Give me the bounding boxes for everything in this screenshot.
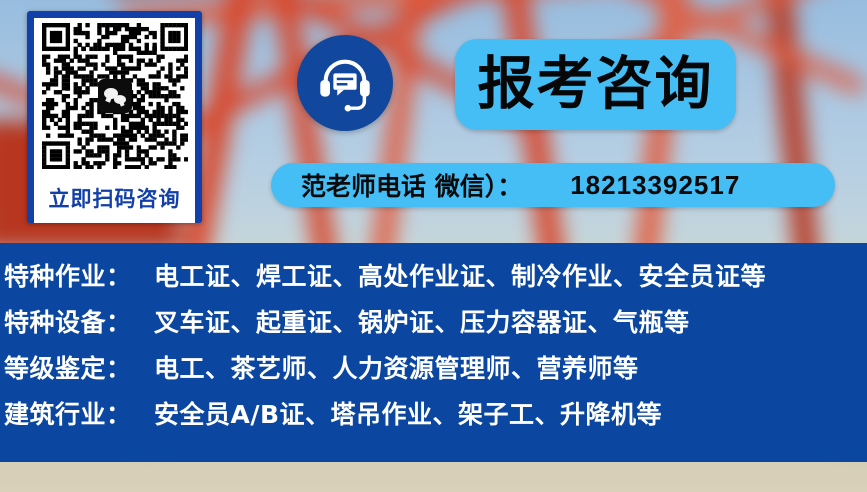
phone-number[interactable]: 18213392517	[570, 170, 740, 201]
category-value: 电工证、焊工证、高处作业证、制冷作业、安全员证等	[154, 257, 766, 293]
category-value: 电工、茶艺师、人力资源管理师、营养师等	[154, 349, 639, 385]
qr-code-image[interactable]	[42, 23, 188, 169]
headset-icon-svg	[314, 52, 376, 114]
qr-code-card[interactable]: 立即扫码咨询	[27, 11, 202, 223]
list-item: 等级鉴定： 电工、茶艺师、人力资源管理师、营养师等	[4, 349, 867, 395]
phone-label: 范老师电话 微信）：	[301, 167, 522, 203]
phone-badge[interactable]: 范老师电话 微信）： 18213392517	[271, 163, 835, 207]
category-label: 特种设备：	[4, 303, 144, 339]
category-label: 建筑行业：	[4, 395, 144, 431]
list-item: 特种设备： 叉车证、起重证、锅炉证、压力容器证、气瓶等	[4, 303, 867, 349]
wechat-icon	[98, 79, 132, 113]
category-label: 等级鉴定：	[4, 349, 144, 385]
list-item: 特种作业： 电工证、焊工证、高处作业证、制冷作业、安全员证等	[4, 257, 867, 303]
category-value: 叉车证、起重证、锅炉证、压力容器证、气瓶等	[154, 303, 690, 339]
title-badge: 报考咨询	[455, 39, 736, 130]
qr-code-surface	[34, 18, 195, 173]
qr-caption: 立即扫码咨询	[34, 173, 195, 223]
background-ground	[0, 484, 867, 492]
wechat-bubbles-icon	[104, 88, 126, 104]
promo-poster: 立即扫码咨询 报考咨询 范老师电话 微信）： 18213392517 特种作业：…	[0, 0, 867, 492]
category-value: 安全员A/B证、塔吊作业、架子工、升降机等	[154, 395, 662, 431]
page-title: 报考咨询	[478, 56, 714, 113]
category-list-panel: 特种作业： 电工证、焊工证、高处作业证、制冷作业、安全员证等 特种设备： 叉车证…	[0, 243, 867, 462]
category-label: 特种作业：	[4, 257, 144, 293]
list-item: 建筑行业： 安全员A/B证、塔吊作业、架子工、升降机等	[4, 395, 867, 441]
headset-support-icon	[297, 35, 393, 131]
